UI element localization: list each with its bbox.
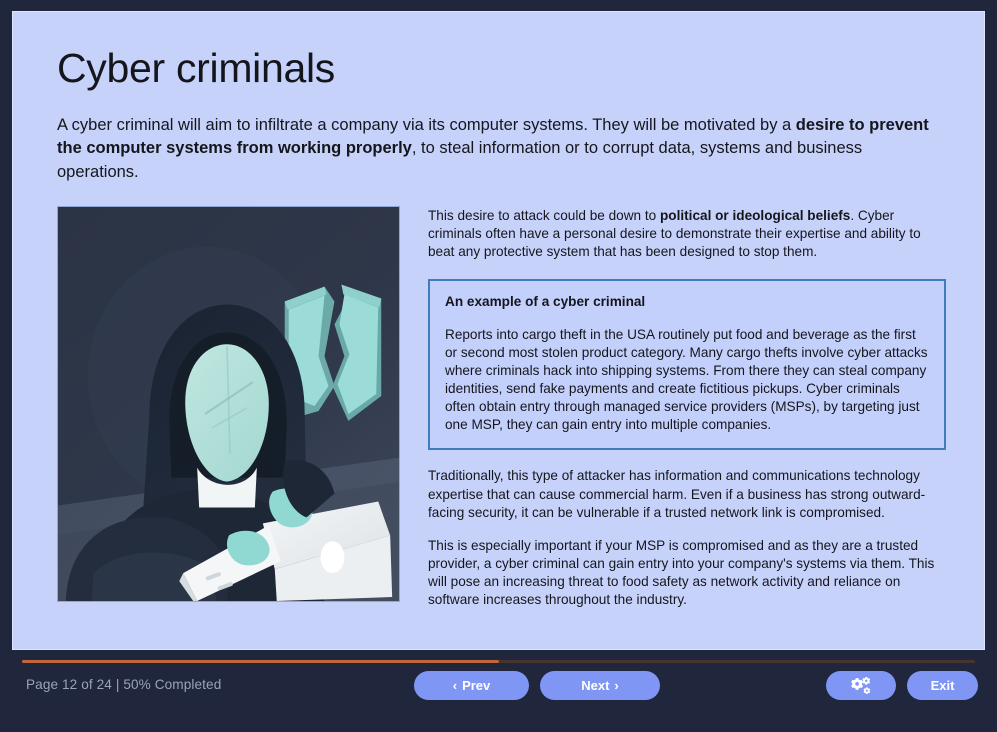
slide-content: Cyber criminals A cyber criminal will ai… (13, 12, 984, 609)
prev-button[interactable]: ‹ Prev (414, 671, 529, 700)
progress-label: Page 12 of 24 | 50% Completed (26, 677, 221, 692)
chevron-right-icon: › (614, 679, 618, 692)
cyber-criminal-illustration (58, 207, 399, 601)
chevron-left-icon: ‹ (453, 679, 457, 692)
paragraph-traditional-attacker: Traditionally, this type of attacker has… (428, 467, 946, 521)
callout-body: Reports into cargo theft in the USA rout… (445, 326, 929, 435)
next-button[interactable]: Next › (540, 671, 660, 700)
paragraph1-bold: political or ideological beliefs (660, 208, 850, 223)
gear-icon (851, 677, 871, 695)
callout-title: An example of a cyber criminal (445, 294, 929, 309)
intro-text-part1: A cyber criminal will aim to infiltrate … (57, 116, 796, 134)
progress-bar-track[interactable] (22, 660, 975, 663)
progress-bar-fill (22, 660, 499, 663)
slide-panel: Cyber criminals A cyber criminal will ai… (12, 11, 985, 650)
exit-button-label: Exit (931, 678, 955, 693)
exit-button[interactable]: Exit (907, 671, 978, 700)
paragraph-msp-risk: This is especially important if your MSP… (428, 537, 946, 610)
text-column: This desire to attack could be down to p… (428, 206, 946, 609)
intro-paragraph: A cyber criminal will aim to infiltrate … (57, 114, 941, 184)
prev-button-label: Prev (462, 678, 490, 693)
page-title: Cyber criminals (57, 46, 946, 92)
paragraph1-part1: This desire to attack could be down to (428, 208, 660, 223)
utility-buttons: Exit (826, 671, 978, 700)
example-callout-box: An example of a cyber criminal Reports i… (428, 279, 946, 451)
navigation-buttons: ‹ Prev Next › (414, 671, 660, 700)
content-columns: This desire to attack could be down to p… (57, 206, 946, 609)
settings-button[interactable] (826, 671, 896, 700)
illustration-frame (57, 206, 400, 602)
next-button-label: Next (581, 678, 609, 693)
paragraph-political-beliefs: This desire to attack could be down to p… (428, 207, 946, 261)
